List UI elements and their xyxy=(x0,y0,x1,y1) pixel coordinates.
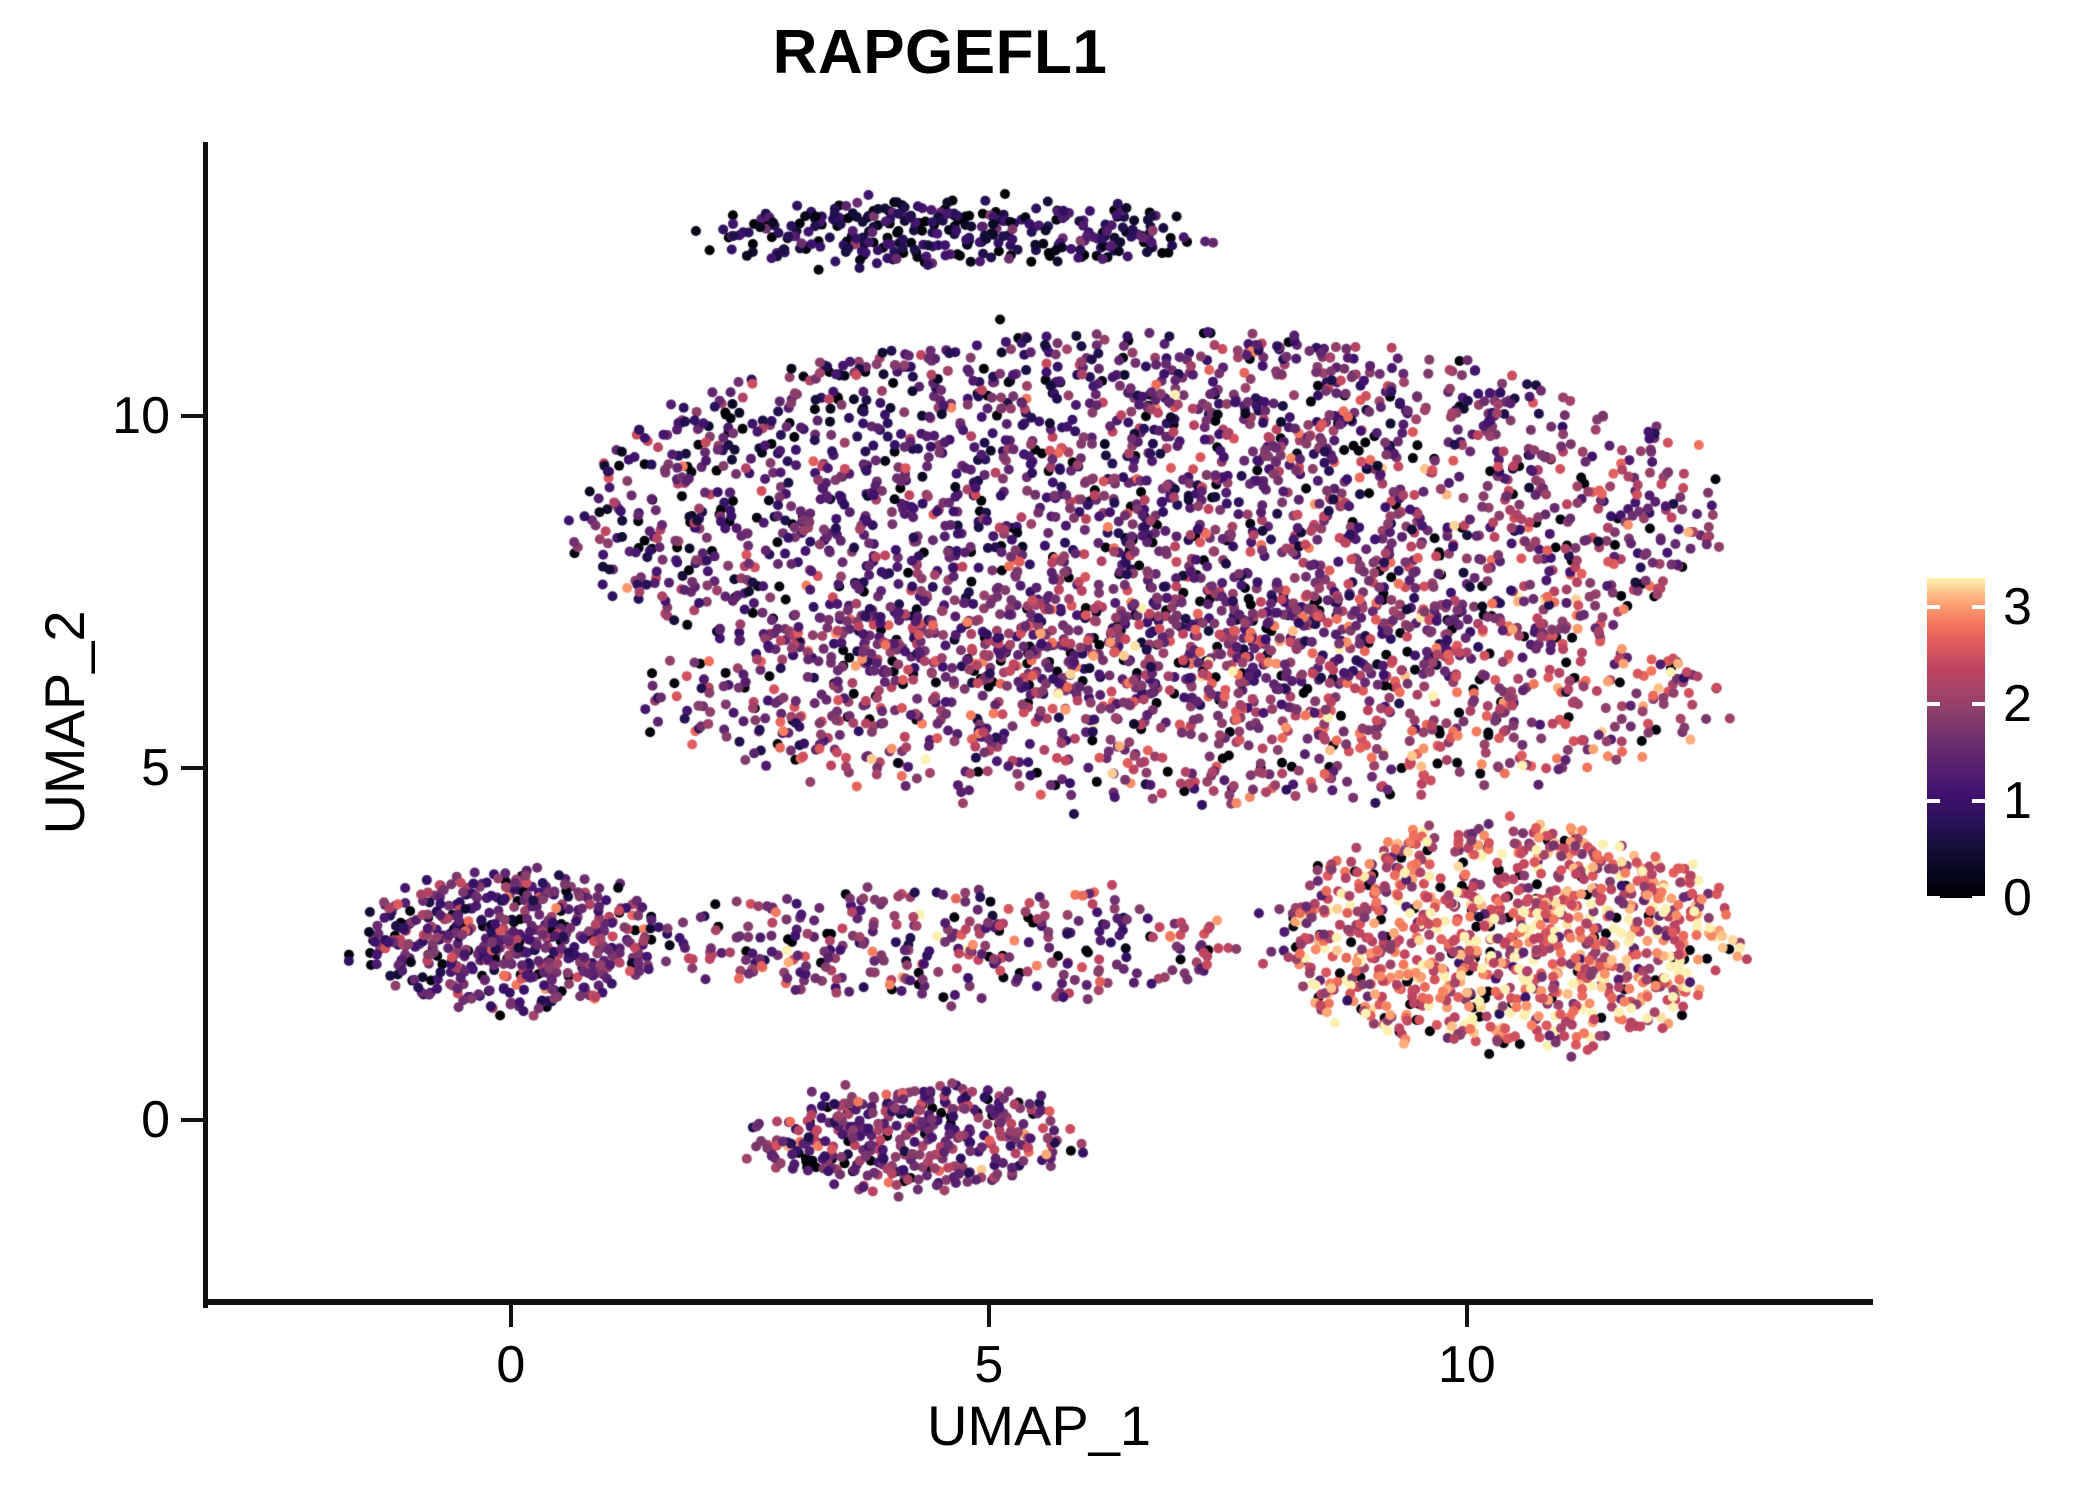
x-tick-mark xyxy=(1465,1305,1469,1327)
colorbar-tick-mark xyxy=(1972,896,1985,900)
colorbar-label-2: 2 xyxy=(2003,678,2032,730)
y-tick-mark xyxy=(181,1118,203,1122)
colorbar-tick-mark xyxy=(1972,702,1985,706)
colorbar-tick-mark xyxy=(1972,605,1985,609)
y-tick-label: 10 xyxy=(112,390,170,442)
x-tick-mark xyxy=(509,1305,513,1327)
colorbar-label-1: 1 xyxy=(2003,775,2032,827)
x-tick-label: 0 xyxy=(496,1339,525,1391)
colorbar-gradient xyxy=(1927,578,1985,898)
y-tick-mark xyxy=(181,414,203,418)
page-title: RAPGEFL1 xyxy=(0,22,1880,84)
umap-figure: RAPGEFL1 0510 0510 UMAP_1 UMAP_2 0123 xyxy=(0,0,2100,1500)
colorbar-tick-mark xyxy=(1927,702,1940,706)
colorbar-tick-mark xyxy=(1927,605,1940,609)
x-tick-label: 10 xyxy=(1438,1339,1496,1391)
y-tick-label: 0 xyxy=(141,1094,170,1146)
colorbar-label-3: 3 xyxy=(2003,581,2032,633)
x-axis-title: UMAP_1 xyxy=(205,1398,1873,1454)
y-axis-title: UMAP_2 xyxy=(30,142,100,1303)
scatter-plot-canvas xyxy=(205,142,1873,1303)
expression-colorbar-legend: 0123 xyxy=(1927,578,2087,898)
plot-panel xyxy=(205,142,1873,1303)
y-tick-mark xyxy=(181,766,203,770)
colorbar-label-0: 0 xyxy=(2003,872,2032,924)
colorbar-tick-mark xyxy=(1927,799,1940,803)
y-tick-label: 5 xyxy=(141,742,170,794)
x-tick-label: 5 xyxy=(974,1339,1003,1391)
x-tick-mark xyxy=(987,1305,991,1327)
colorbar-tick-mark xyxy=(1972,799,1985,803)
colorbar-tick-mark xyxy=(1927,896,1940,900)
